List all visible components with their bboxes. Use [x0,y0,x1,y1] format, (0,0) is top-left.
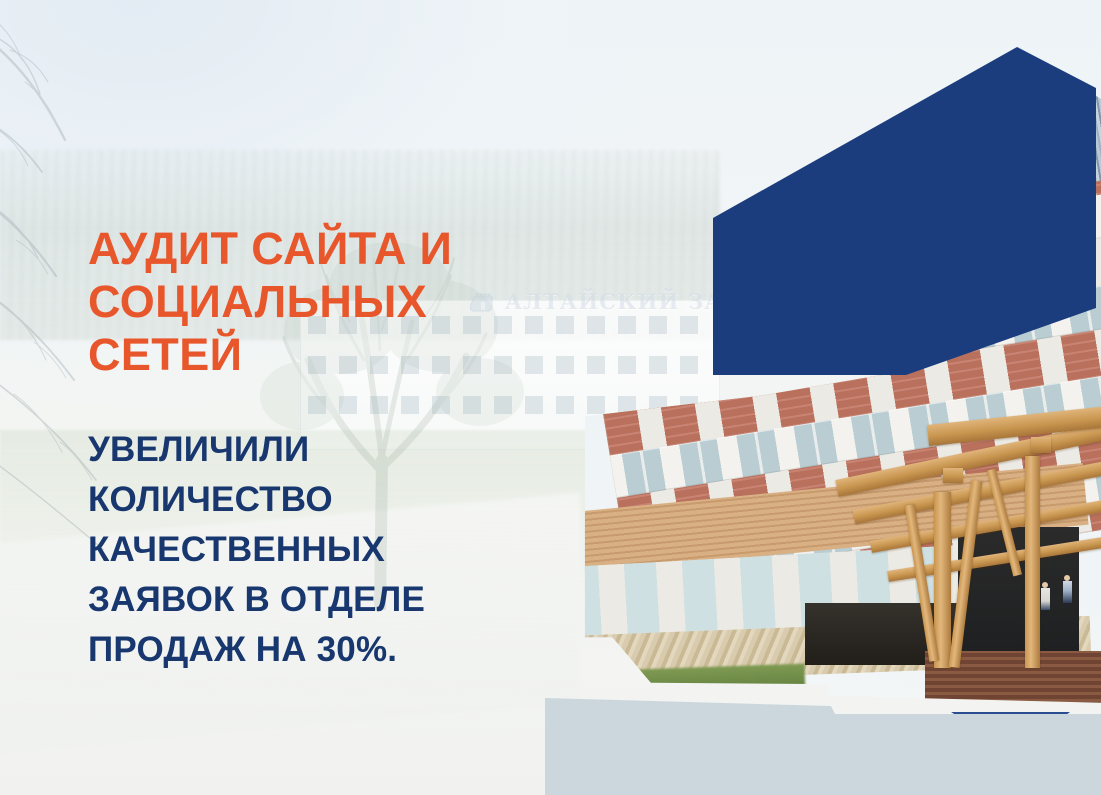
photo-person [1063,575,1072,603]
subheadline-line: ЗАЯВОК В ОТДЕЛЕ [88,575,528,625]
navy-angled-polygon [700,30,1101,390]
subheadline-line: КАЧЕСТВЕННЫХ [88,525,528,575]
headline-line: СЕТЕЙ [88,328,528,381]
subheadline-line: УВЕЛИЧИЛИ [88,425,528,475]
headline-line: АУДИТ САЙТА И [88,222,528,275]
promo-slide: АЛТАЙСКИЙ ЗАМОК [0,0,1101,795]
headline-line: СОЦИАЛЬНЫХ [88,275,528,328]
subheadline-line: КОЛИЧЕСТВО [88,475,528,525]
bottom-light-band [545,676,1101,795]
subheadline-line: ПРОДАЖ НА 30%. [88,625,528,675]
photo-wooden-canopy [848,389,1101,693]
page-title: АУДИТ САЙТА И СОЦИАЛЬНЫХ СЕТЕЙ [88,222,528,381]
page-subtitle: УВЕЛИЧИЛИ КОЛИЧЕСТВО КАЧЕСТВЕННЫХ ЗАЯВОК… [88,381,528,675]
photo-person [1041,582,1050,610]
copy-block: АУДИТ САЙТА И СОЦИАЛЬНЫХ СЕТЕЙ УВЕЛИЧИЛИ… [88,222,528,675]
